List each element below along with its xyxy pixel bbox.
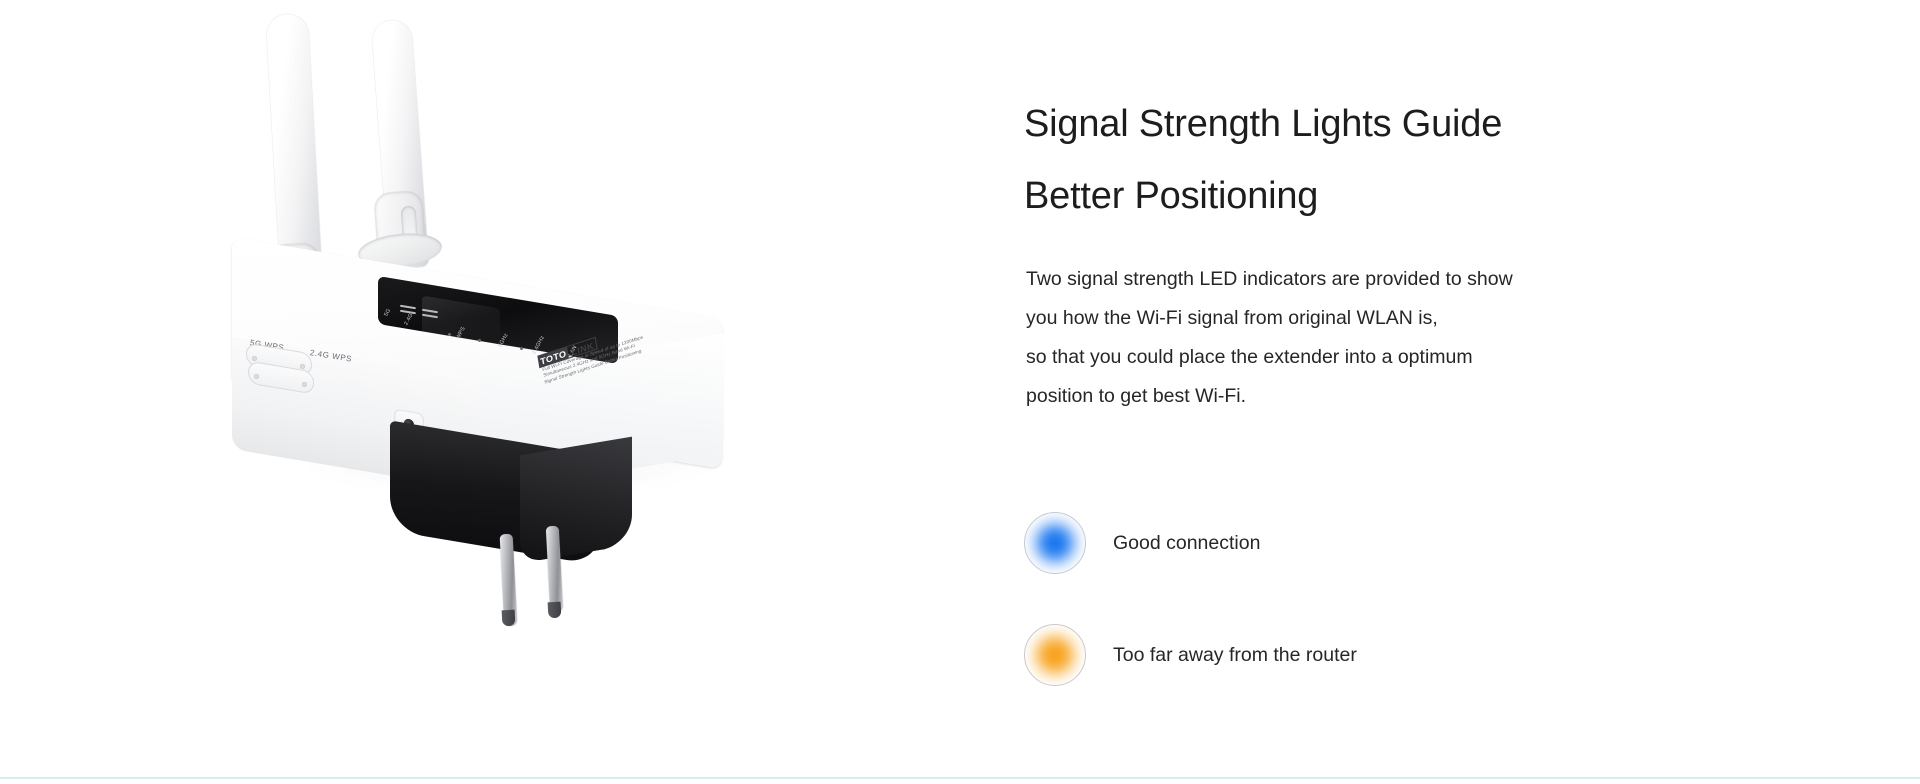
plug-pin-left-tip <box>502 610 516 627</box>
headline-line-1: Signal Strength Lights Guide <box>1024 88 1664 160</box>
description-line-2: you how the Wi-Fi signal from original W… <box>1026 299 1686 338</box>
wps-5g-indicator-2 <box>300 364 305 369</box>
orange-led-glow <box>1031 631 1079 679</box>
list-item: Too far away from the router <box>1024 599 1684 711</box>
orange-led-swatch <box>1024 624 1086 686</box>
blue-led-glow <box>1031 519 1079 567</box>
list-item: Good connection <box>1024 487 1684 599</box>
page-title: Signal Strength Lights Guide Better Posi… <box>1024 88 1664 232</box>
led-dot-3 <box>520 347 523 350</box>
eu-plug-base-side <box>520 437 632 564</box>
wps-24g-indicator <box>254 374 259 379</box>
wps-24g-indicator-2 <box>302 382 307 387</box>
description-line-3: so that you could place the extender int… <box>1026 338 1686 377</box>
section-divider <box>0 777 1920 779</box>
led-dot-1 <box>448 333 451 336</box>
wps-5g-indicator <box>252 356 257 361</box>
feature-description: Two signal strength LED indicators are p… <box>1026 260 1686 416</box>
led-legend-label-good: Good connection <box>1113 532 1260 555</box>
led-legend-label-far: Too far away from the router <box>1113 644 1357 667</box>
blue-led-swatch <box>1024 512 1086 574</box>
product-feature-section: 5G 2.4G WPS 5GHz 2.4GHz WLAN 5G WPS 2.4G… <box>0 0 1920 784</box>
led-dot-2 <box>478 339 481 342</box>
description-line-4: position to get best Wi-Fi. <box>1026 377 1686 416</box>
plug-pin-right-tip <box>548 602 562 619</box>
feature-copy: Signal Strength Lights Guide Better Posi… <box>1024 0 1744 784</box>
product-image: 5G 2.4G WPS 5GHz 2.4GHz WLAN 5G WPS 2.4G… <box>40 16 870 784</box>
description-line-1: Two signal strength LED indicators are p… <box>1026 260 1686 299</box>
led-legend: Good connection Too far away from the ro… <box>1024 487 1684 711</box>
headline-line-2: Better Positioning <box>1024 160 1664 232</box>
product-illustration: 5G 2.4G WPS 5GHz 2.4GHz WLAN 5G WPS 2.4G… <box>190 6 830 784</box>
